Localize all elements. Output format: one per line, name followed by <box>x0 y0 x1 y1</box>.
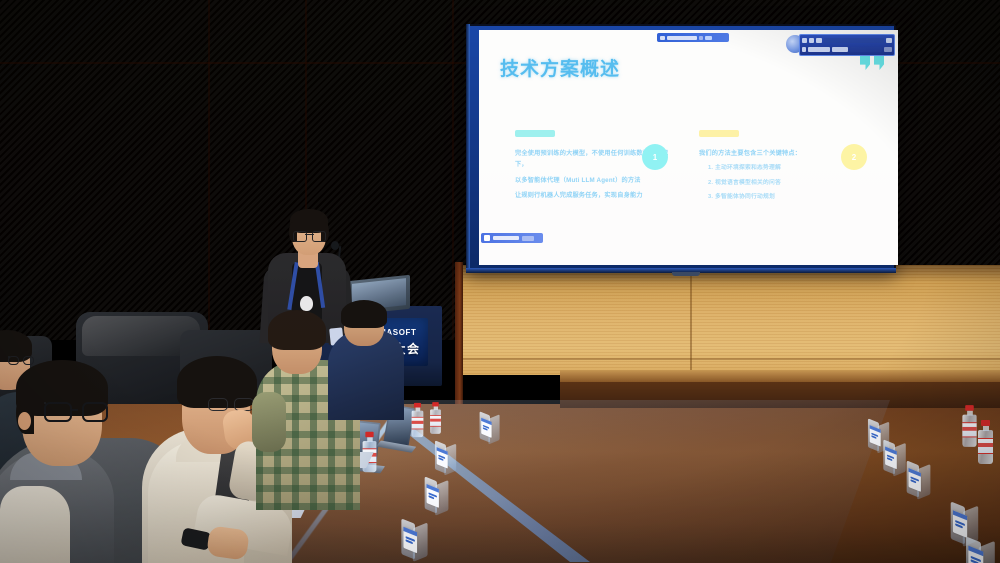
attendee-glasses-bridge <box>72 409 78 411</box>
water-bottle[interactable] <box>430 402 441 434</box>
slide-paragraph: 我们的方法主要包含三个关键特点： <box>699 148 859 159</box>
wall-seam-vertical-1 <box>208 0 210 340</box>
meeting-toolbar-top-center[interactable] <box>657 33 729 42</box>
slide-column-left: 完全使用预训练的大模型，不使用任何训练数据的情况下， 以多智能体代理（Muti … <box>515 30 675 206</box>
status-badge-bottom-left[interactable] <box>481 233 543 243</box>
slide-paragraph: 让规则行机器人完成服务任务，实现自身能力 <box>515 190 675 201</box>
attendee-left-edge-sleeve <box>0 486 70 563</box>
slide-column-right: 我们的方法主要包含三个关键特点： 1. 主动环境探索和态势理解 2. 视觉语言模… <box>699 30 859 206</box>
name-plate[interactable] <box>480 413 501 440</box>
presentation-slide[interactable]: 技术方案概述 完全使用预训练的大模型，不使用任何训练数据的情况下， 以多智能体代… <box>479 30 898 265</box>
attendee-glasses-icon <box>44 402 72 422</box>
slide-badge-2: 2 <box>841 144 867 170</box>
slide-body-right: 我们的方法主要包含三个关键特点： 1. 主动环境探索和态势理解 2. 视觉语言模… <box>699 148 859 203</box>
quote-mark-decoration <box>860 56 884 70</box>
presenter-shirt-logo <box>300 296 313 311</box>
attendee-glasses-icon <box>208 398 254 412</box>
slide-paragraph: 以多智能体代理（Muti LLM Agent）的方法 <box>515 175 675 186</box>
presenter-glasses-icon <box>293 231 326 240</box>
water-bottle[interactable] <box>978 420 993 464</box>
accent-bar-cyan <box>515 130 555 137</box>
slide-numbered-list: 1. 主动环境探索和态势理解 2. 视觉语言模型相关的问答 3. 多智能体协同行… <box>699 163 859 202</box>
name-plate[interactable] <box>883 442 906 473</box>
slide-badge-1: 1 <box>642 144 668 170</box>
wall-light-seam-h <box>460 358 1000 360</box>
name-plate[interactable] <box>435 443 457 472</box>
water-bottle[interactable] <box>962 405 976 447</box>
name-plate[interactable] <box>966 539 996 563</box>
name-plate[interactable] <box>425 479 450 511</box>
control-panel-row-bottom[interactable] <box>802 46 892 53</box>
attendee-plaid-sleeve <box>252 392 286 452</box>
water-bottle[interactable] <box>412 403 424 437</box>
name-plate[interactable] <box>907 463 932 495</box>
display-mount <box>672 272 700 276</box>
attendee-glasses-icon <box>8 356 19 365</box>
conference-room-scene: 技术方案概述 完全使用预训练的大模型，不使用任何训练数据的情况下， 以多智能体代… <box>0 0 1000 563</box>
attendee-glasses-icon <box>82 402 108 422</box>
microphone-head-icon <box>331 241 339 250</box>
name-plate[interactable] <box>401 521 428 557</box>
display-left-edge <box>466 24 470 272</box>
slide-list-item: 1. 主动环境探索和态势理解 <box>708 163 859 174</box>
table-back-edge <box>560 370 1000 382</box>
attendee-glasses-icon <box>23 356 34 365</box>
attendee-ear <box>18 412 31 430</box>
presenter-glasses-bridge <box>305 234 314 235</box>
name-plate[interactable] <box>951 504 980 541</box>
slide-list-item: 2. 视觉语言模型相关的问答 <box>708 178 859 189</box>
accent-bar-yellow <box>699 130 739 137</box>
control-panel-row-top[interactable] <box>802 37 892 44</box>
wall-seam-vertical-3 <box>452 0 454 340</box>
meeting-control-panel[interactable] <box>799 34 895 56</box>
slide-list-item: 3. 多智能体协同行动规划 <box>708 192 859 203</box>
